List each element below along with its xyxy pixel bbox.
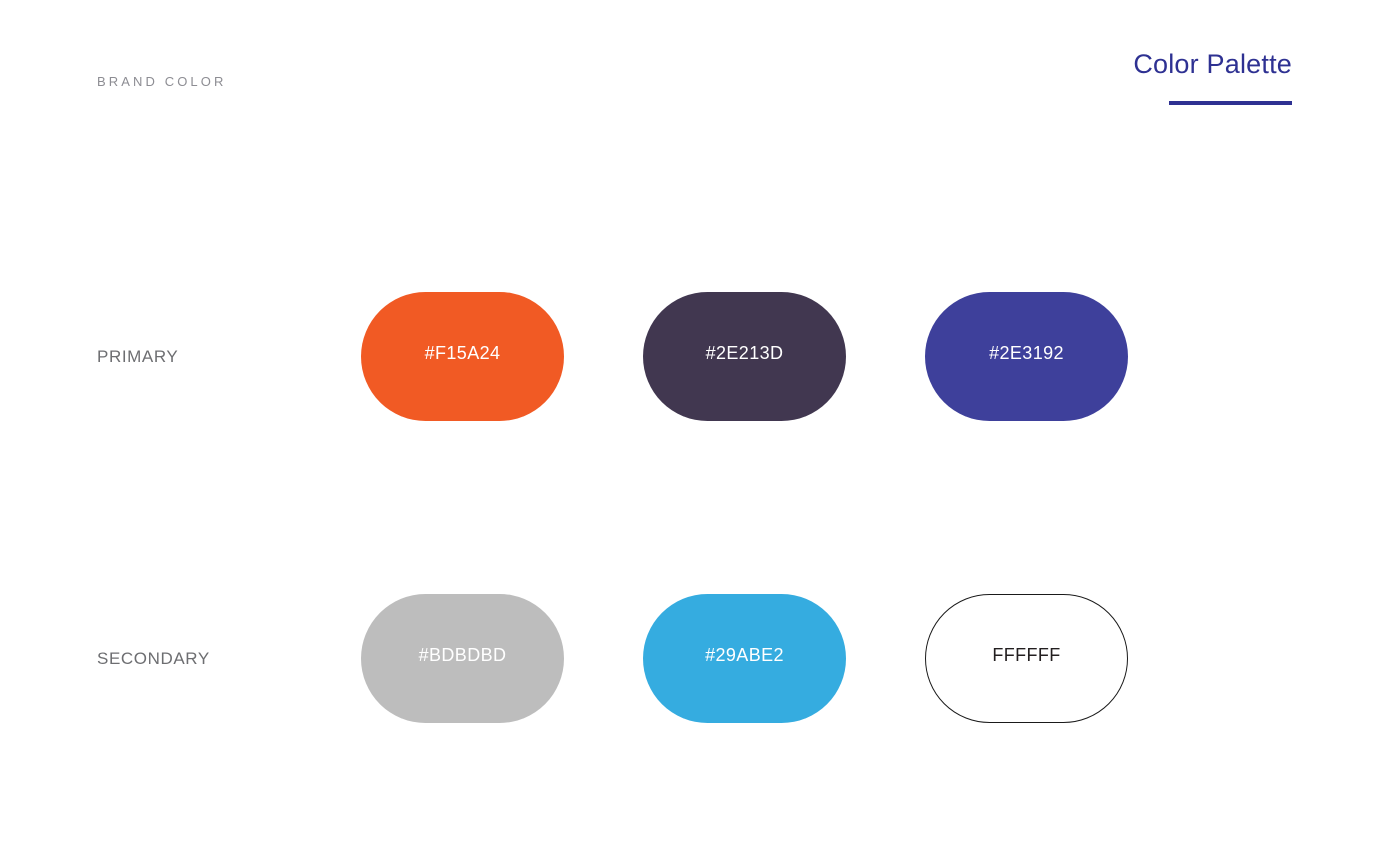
color-swatch[interactable]: #2E3192: [925, 292, 1128, 421]
palette-row-secondary: SECONDARY #BDBDBD #29ABE2 FFFFFF: [0, 594, 1400, 723]
swatch-hex-label: #2E213D: [706, 344, 784, 362]
swatch-group-secondary: #BDBDBD #29ABE2 FFFFFF: [361, 594, 1128, 723]
swatch-hex-label: #F15A24: [425, 344, 501, 362]
eyebrow-label: BRAND COLOR: [97, 74, 226, 89]
color-swatch[interactable]: #F15A24: [361, 292, 564, 421]
title-underline-rule: [1169, 101, 1292, 105]
swatch-hex-label: #2E3192: [989, 344, 1064, 362]
swatch-hex-label: #29ABE2: [705, 646, 784, 664]
row-label-primary: PRIMARY: [97, 347, 178, 367]
color-swatch[interactable]: #BDBDBD: [361, 594, 564, 723]
color-swatch[interactable]: #2E213D: [643, 292, 846, 421]
swatch-group-primary: #F15A24 #2E213D #2E3192: [361, 292, 1128, 421]
swatch-hex-label: #BDBDBD: [419, 646, 507, 664]
color-swatch[interactable]: #29ABE2: [643, 594, 846, 723]
color-swatch[interactable]: FFFFFF: [925, 594, 1128, 723]
row-label-secondary: SECONDARY: [97, 649, 210, 669]
palette-row-primary: PRIMARY #F15A24 #2E213D #2E3192: [0, 292, 1400, 421]
swatch-hex-label: FFFFFF: [992, 646, 1060, 664]
page-title: Color Palette: [1133, 50, 1292, 80]
title-block: Color Palette: [1133, 50, 1292, 105]
color-palette-page: BRAND COLOR Color Palette PRIMARY #F15A2…: [0, 0, 1400, 862]
